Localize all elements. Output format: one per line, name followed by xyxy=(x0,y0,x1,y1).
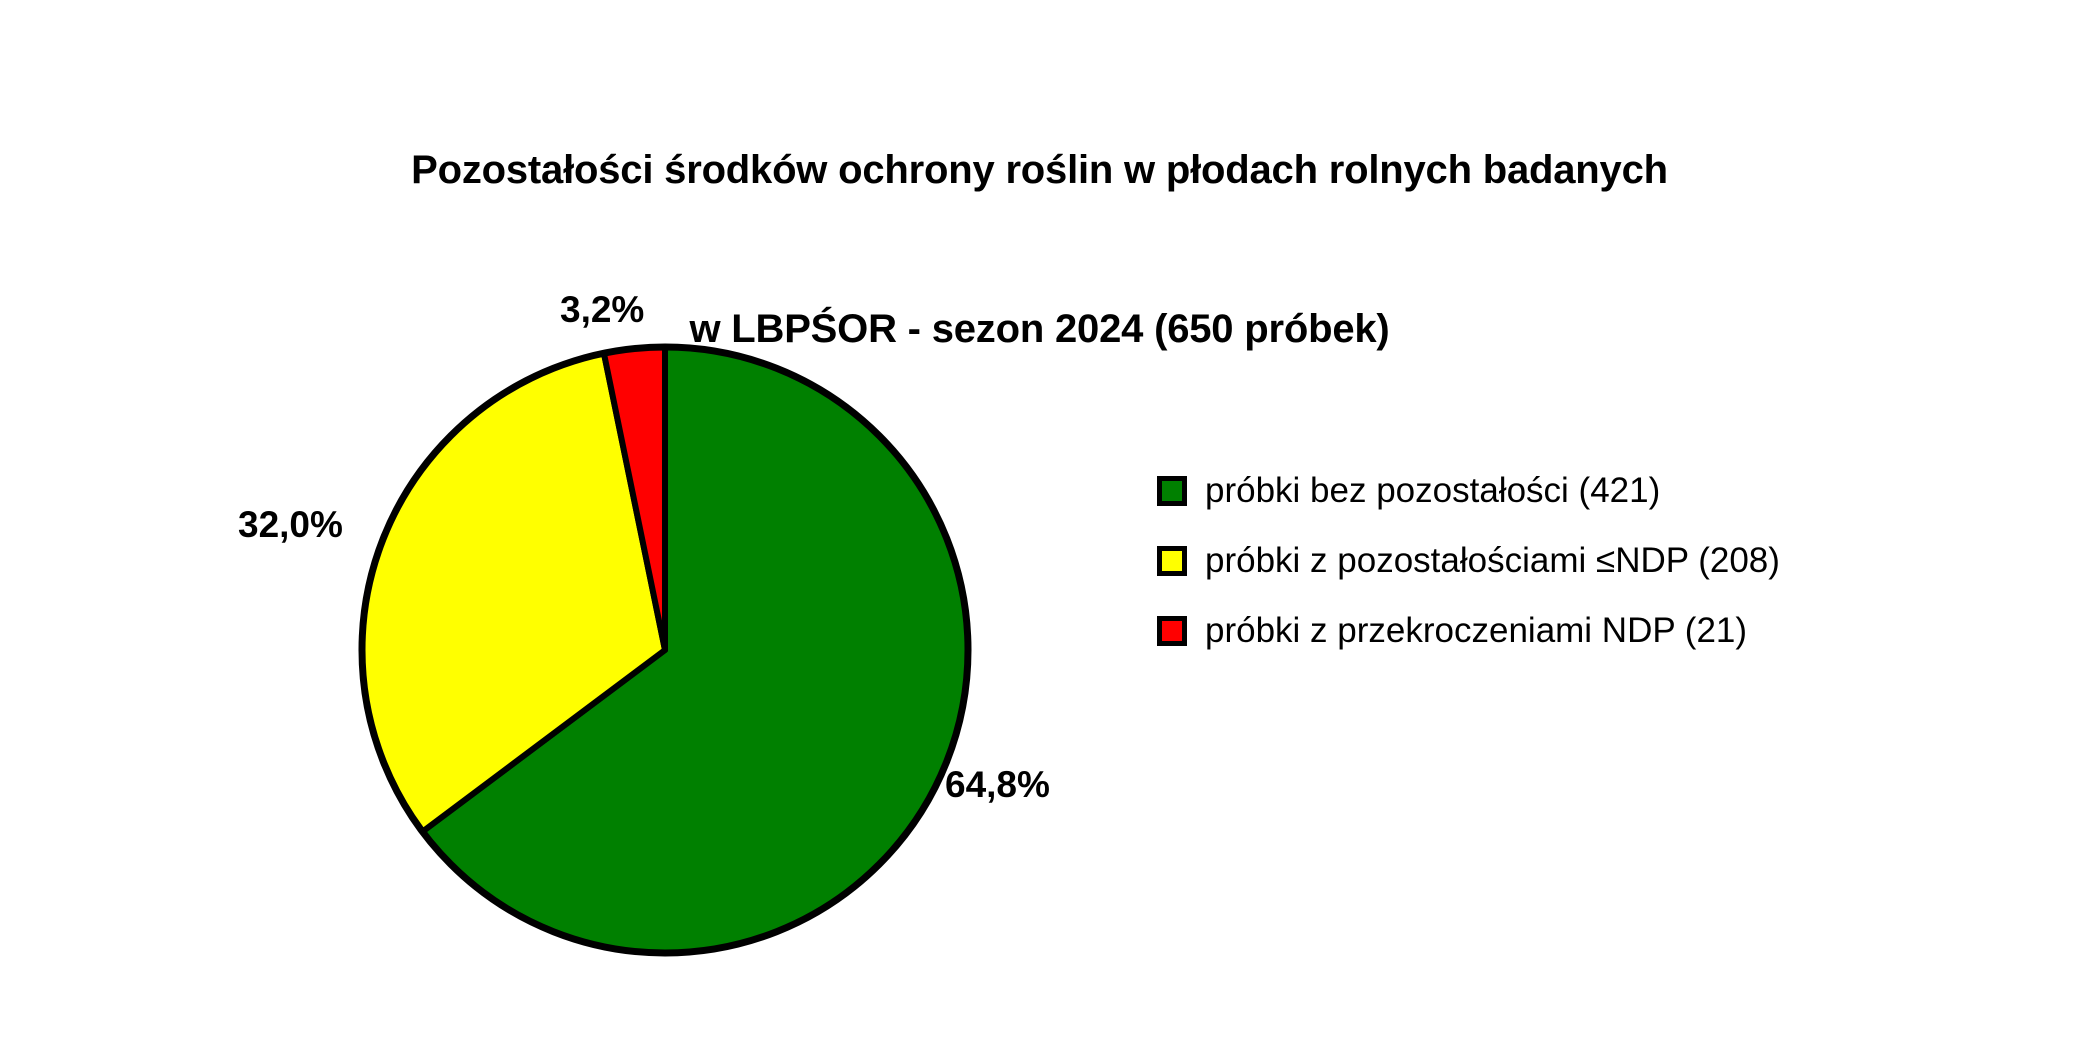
legend-item-label: próbki bez pozostałości (421) xyxy=(1205,471,1660,511)
chart-canvas: Pozostałości środków ochrony roślin w pł… xyxy=(0,0,2079,1050)
legend-item[interactable]: próbki z pozostałościami ≤NDP (208) xyxy=(1157,526,1957,596)
pie-chart xyxy=(355,340,975,960)
legend-swatch-icon xyxy=(1157,546,1187,576)
legend: próbki bez pozostałości (421)próbki z po… xyxy=(1157,456,1957,666)
legend-item-label: próbki z pozostałościami ≤NDP (208) xyxy=(1205,541,1780,581)
pie-svg xyxy=(355,340,975,960)
legend-item[interactable]: próbki bez pozostałości (421) xyxy=(1157,456,1957,526)
data-label-red: 3,2% xyxy=(560,290,644,330)
legend-item[interactable]: próbki z przekroczeniami NDP (21) xyxy=(1157,596,1957,666)
legend-item-label: próbki z przekroczeniami NDP (21) xyxy=(1205,611,1747,651)
legend-swatch-icon xyxy=(1157,616,1187,646)
title-line-1: Pozostałości środków ochrony roślin w pł… xyxy=(0,144,2079,197)
title-line-2: w LBPŚOR - sezon 2024 (650 próbek) xyxy=(0,303,2079,356)
page-title: Pozostałości środków ochrony roślin w pł… xyxy=(0,38,2079,462)
legend-swatch-icon xyxy=(1157,476,1187,506)
data-label-green: 64,8% xyxy=(945,765,1050,805)
data-label-yellow: 32,0% xyxy=(238,505,343,545)
